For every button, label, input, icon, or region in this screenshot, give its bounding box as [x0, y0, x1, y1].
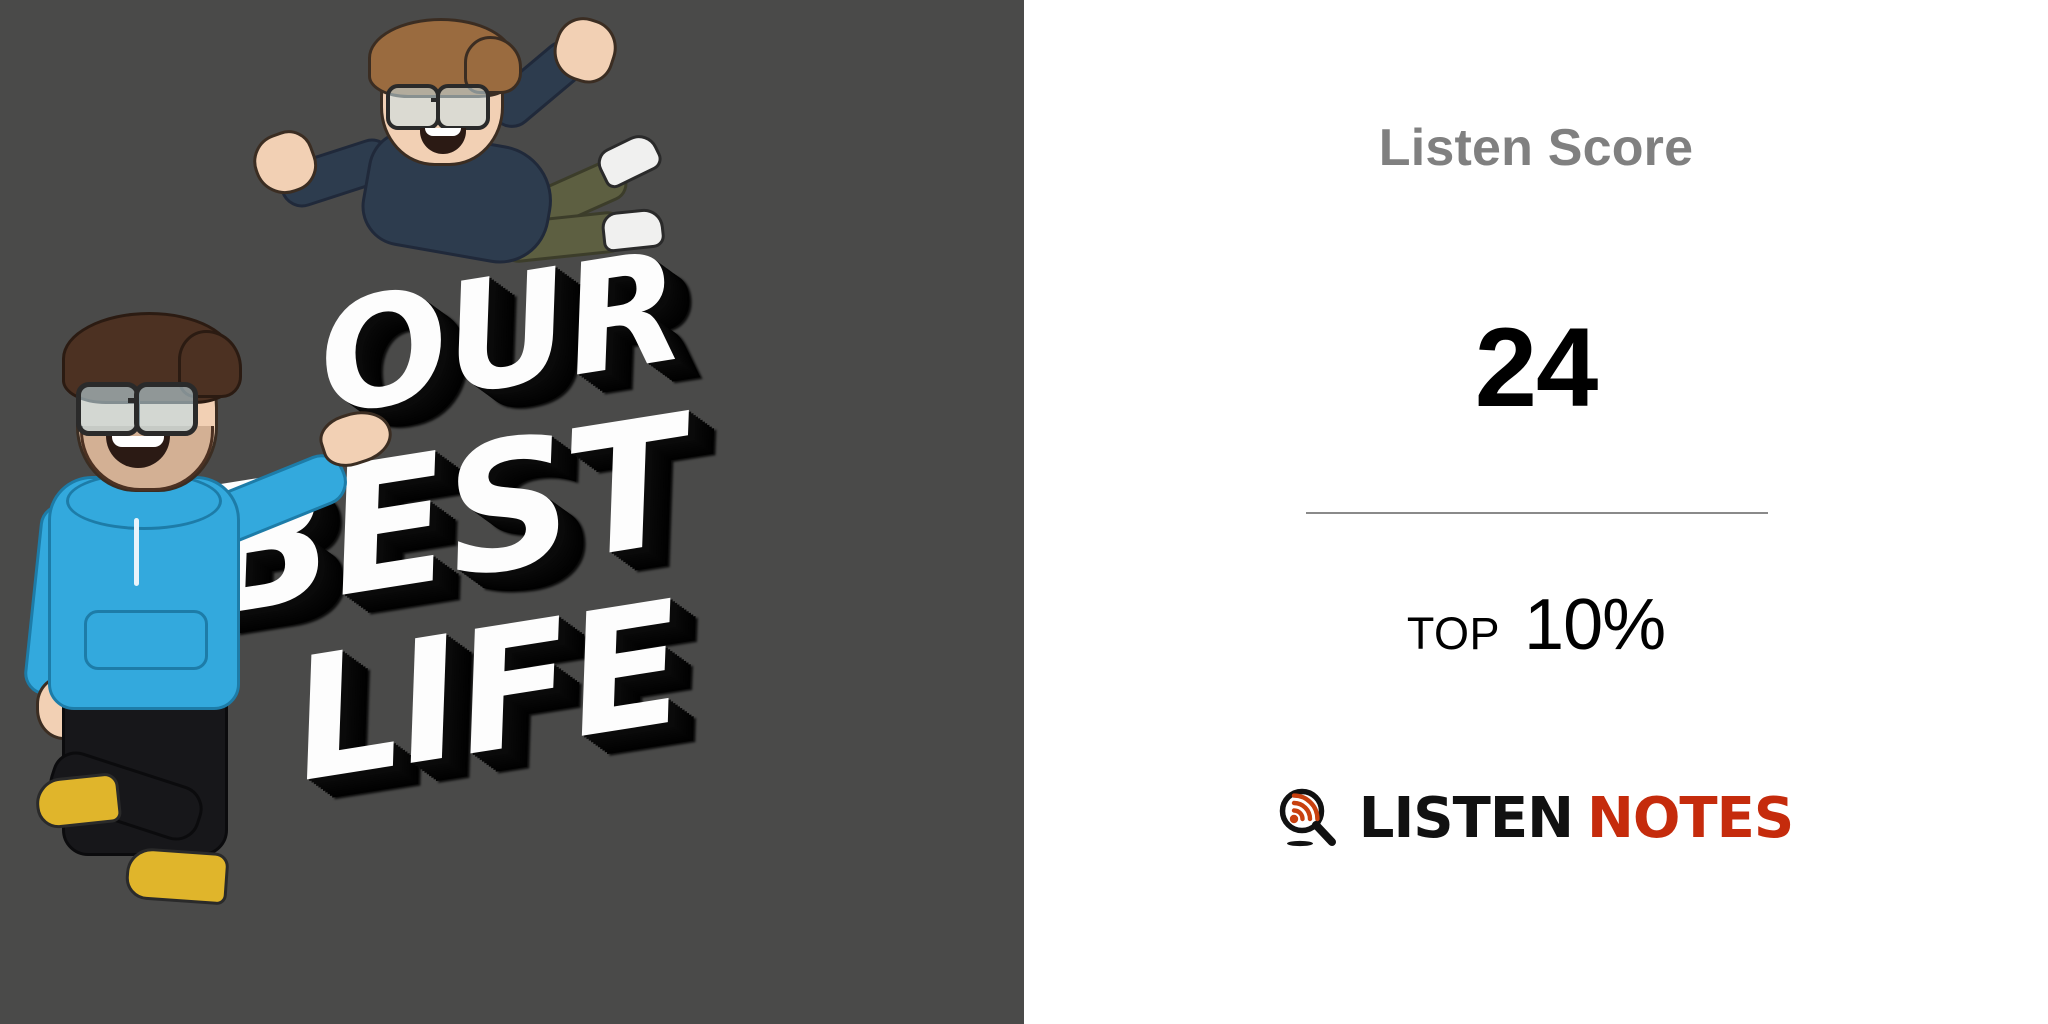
brand-word-listen: LISTEN: [1359, 791, 1573, 847]
standing-hood-string: [134, 518, 139, 586]
rank-percentile-value: 10%: [1524, 584, 1665, 666]
standing-glasses-left: [76, 382, 140, 436]
standing-shoe-right: [124, 847, 229, 906]
listen-score-value: 24: [1024, 312, 2048, 424]
rank-label: TOP: [1407, 608, 1500, 660]
listen-score-panel: Listen Score 24 TOP 10% LISTEN NOTE: [1024, 0, 2048, 1024]
magnifier-rss-icon: [1279, 788, 1337, 850]
standing-hoodie-pocket: [84, 610, 208, 670]
standing-glasses-bridge: [128, 398, 138, 403]
wordmark-line-life: LIFE: [281, 578, 694, 805]
podcast-cover-art[interactable]: OUR BEST LIFE: [0, 0, 1024, 1024]
standing-glasses-right: [134, 382, 198, 436]
global-rank-row: TOP 10%: [1024, 584, 2048, 666]
listen-notes-logo[interactable]: LISTEN NOTES: [1024, 788, 2048, 850]
standing-shoe-left: [34, 772, 123, 831]
listen-score-card: OUR BEST LIFE: [0, 0, 2048, 1024]
brand-word-notes: NOTES: [1587, 791, 1793, 847]
flying-glasses-bridge: [431, 98, 439, 102]
flying-glasses-right: [436, 84, 490, 130]
flying-glasses-left: [386, 84, 440, 130]
flying-bitmoji-character: [268, 10, 638, 330]
cover-art-canvas: OUR BEST LIFE: [0, 0, 1024, 1024]
flying-shoe-lower: [600, 207, 666, 253]
standing-bitmoji-character: [18, 290, 318, 910]
score-divider: [1306, 512, 1768, 514]
listen-score-label: Listen Score: [1024, 118, 2048, 178]
